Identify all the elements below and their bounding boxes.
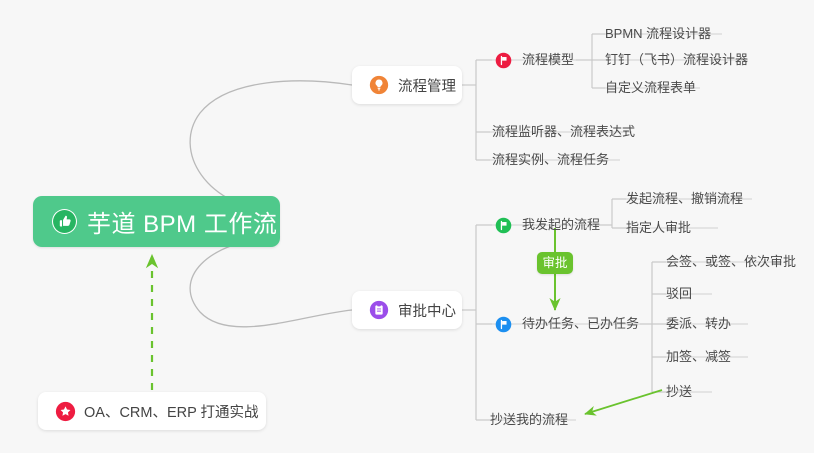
clipboard-icon bbox=[368, 299, 390, 321]
branch-label-approval-center: 审批中心 bbox=[398, 300, 456, 321]
leaf-delegate-transfer[interactable]: 委派、转办 bbox=[666, 311, 731, 337]
leaf-countersign[interactable]: 会签、或签、依次审批 bbox=[666, 249, 796, 275]
leaf-process-listener[interactable]: 流程监听器、流程表达式 bbox=[492, 119, 635, 145]
leaf-reject[interactable]: 驳回 bbox=[666, 281, 692, 307]
leaf-label-todo-done-tasks: 待办任务、已办任务 bbox=[522, 311, 639, 337]
leaf-label-dingtalk-feishu-designer: 钉钉（飞书）流程设计器 bbox=[605, 47, 748, 73]
leaf-custom-form[interactable]: 自定义流程表单 bbox=[605, 75, 696, 101]
leaf-label-my-initiated: 我发起的流程 bbox=[522, 212, 600, 238]
root-node-label: 芋道 BPM 工作流 bbox=[87, 204, 277, 239]
leaf-bpmn-designer[interactable]: BPMN 流程设计器 bbox=[605, 21, 711, 47]
leaf-label-process-instance: 流程实例、流程任务 bbox=[492, 147, 609, 173]
leaf-dingtalk-feishu-designer[interactable]: 钉钉（飞书）流程设计器 bbox=[605, 47, 748, 73]
leaf-label-countersign: 会签、或签、依次审批 bbox=[666, 249, 796, 275]
leaf-label-custom-form: 自定义流程表单 bbox=[605, 75, 696, 101]
leaf-my-initiated[interactable]: 我发起的流程 bbox=[492, 212, 600, 238]
leaf-start-cancel-process[interactable]: 发起流程、撤销流程 bbox=[626, 186, 743, 212]
leaf-process-model[interactable]: 流程模型 bbox=[492, 47, 574, 73]
mindmap-canvas: 芋道 BPM 工作流 流程管理 审批中心 bbox=[0, 0, 814, 453]
approval-pill-badge: 审批 bbox=[537, 252, 573, 274]
leaf-label-delegate-transfer: 委派、转办 bbox=[666, 311, 731, 337]
flag-icon bbox=[492, 214, 514, 236]
leaf-todo-done-tasks[interactable]: 待办任务、已办任务 bbox=[492, 311, 639, 337]
lightbulb-icon bbox=[368, 74, 390, 96]
star-icon bbox=[54, 400, 76, 422]
leaf-label-add-remove-sign: 加签、减签 bbox=[666, 344, 731, 370]
leaf-label-cc: 抄送 bbox=[666, 379, 692, 405]
branch-label-process-management: 流程管理 bbox=[398, 75, 456, 96]
integration-node[interactable]: OA、CRM、ERP 打通实战 bbox=[38, 392, 266, 430]
leaf-assigned-approver[interactable]: 指定人审批 bbox=[626, 215, 691, 241]
branch-node-approval-center[interactable]: 审批中心 bbox=[352, 291, 462, 329]
leaf-cc-to-me[interactable]: 抄送我的流程 bbox=[490, 407, 568, 433]
leaf-label-reject: 驳回 bbox=[666, 281, 692, 307]
root-node[interactable]: 芋道 BPM 工作流 bbox=[33, 196, 280, 247]
leaf-label-process-model: 流程模型 bbox=[522, 47, 574, 73]
leaf-label-cc-to-me: 抄送我的流程 bbox=[490, 407, 568, 433]
branch-node-process-management[interactable]: 流程管理 bbox=[352, 66, 462, 104]
flag-icon bbox=[492, 313, 514, 335]
flag-icon bbox=[492, 49, 514, 71]
leaf-label-process-listener: 流程监听器、流程表达式 bbox=[492, 119, 635, 145]
leaf-add-remove-sign[interactable]: 加签、减签 bbox=[666, 344, 731, 370]
leaf-label-bpmn-designer: BPMN 流程设计器 bbox=[605, 21, 711, 47]
leaf-label-start-cancel-process: 发起流程、撤销流程 bbox=[626, 186, 743, 212]
leaf-process-instance[interactable]: 流程实例、流程任务 bbox=[492, 147, 609, 173]
integration-node-label: OA、CRM、ERP 打通实战 bbox=[84, 401, 259, 422]
thumbs-up-icon bbox=[52, 209, 77, 234]
leaf-cc[interactable]: 抄送 bbox=[666, 379, 692, 405]
leaf-label-assigned-approver: 指定人审批 bbox=[626, 215, 691, 241]
